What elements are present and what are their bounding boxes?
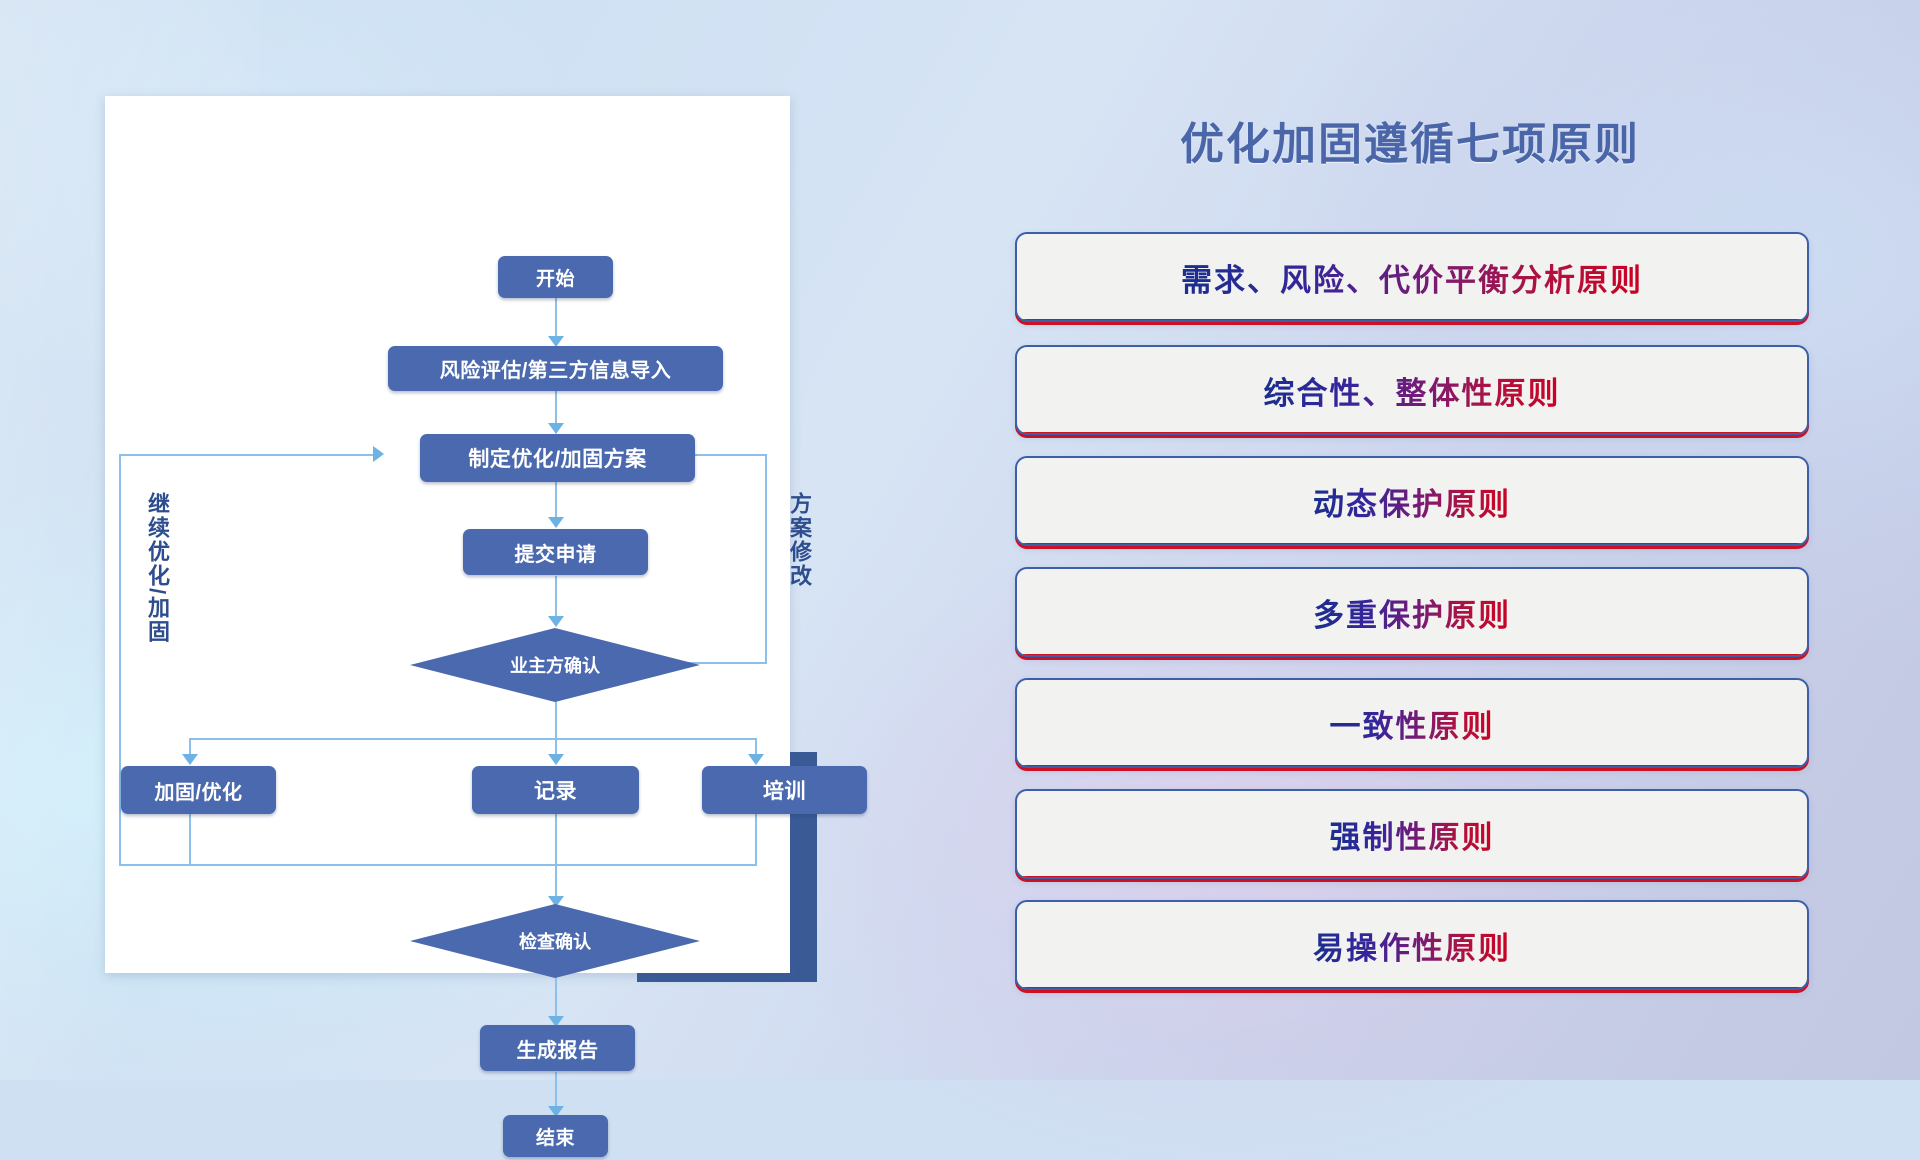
flow-node-end[interactable]: 结束 xyxy=(503,1115,608,1157)
principle-item-2-label: 综合性、整体性原则 xyxy=(1264,368,1561,413)
edge-branch-right-arrow xyxy=(748,754,764,765)
principle-item-2[interactable]: 综合性、整体性原则 xyxy=(1015,345,1809,435)
edge-owner-branch-bus xyxy=(189,738,757,740)
edge-label-continue-optimize: 继续优化/加固 xyxy=(141,492,173,644)
edge-owner-branch-stem xyxy=(555,700,557,740)
principle-item-4-label: 多重保护原则 xyxy=(1313,590,1511,635)
flow-node-plan[interactable]: 制定优化/加固方案 xyxy=(420,434,695,482)
principle-item-5[interactable]: 一致性原则 xyxy=(1015,678,1809,768)
principle-item-6[interactable]: 强制性原则 xyxy=(1015,789,1809,879)
flow-node-record[interactable]: 记录 xyxy=(472,766,639,814)
edge-left-loop-arrow xyxy=(373,446,384,462)
principle-item-1-label: 需求、风险、代价平衡分析原则 xyxy=(1181,255,1643,300)
flow-node-risk-assessment[interactable]: 风险评估/第三方信息导入 xyxy=(388,346,723,391)
edge-merge-bus xyxy=(189,864,757,866)
edge-submit-owner-arrow xyxy=(548,616,564,627)
principle-item-6-label: 强制性原则 xyxy=(1330,812,1495,857)
principles-panel-title: 优化加固遵循七项原则 xyxy=(1015,108,1805,172)
principle-item-3-label: 动态保护原则 xyxy=(1313,479,1511,524)
edge-left-loop-top xyxy=(119,454,381,456)
flow-node-start[interactable]: 开始 xyxy=(498,256,613,298)
flow-node-submit-application[interactable]: 提交申请 xyxy=(463,529,648,575)
edge-branch-mid-arrow xyxy=(548,754,564,765)
principle-item-1[interactable]: 需求、风险、代价平衡分析原则 xyxy=(1015,232,1809,322)
flow-node-owner-confirm[interactable]: 业主方确认 xyxy=(410,628,700,702)
principle-item-5-label: 一致性原则 xyxy=(1330,701,1495,746)
edge-right-loop-vertical xyxy=(765,454,767,664)
edge-risk-plan-arrow xyxy=(548,423,564,434)
flow-node-check-confirm[interactable]: 检查确认 xyxy=(410,904,700,978)
flow-node-training[interactable]: 培训 xyxy=(702,766,867,814)
principle-item-7[interactable]: 易操作性原则 xyxy=(1015,900,1809,990)
edge-merge-right-stem xyxy=(755,814,757,866)
principle-item-4[interactable]: 多重保护原则 xyxy=(1015,567,1809,657)
principle-item-3[interactable]: 动态保护原则 xyxy=(1015,456,1809,546)
flow-node-reinforce[interactable]: 加固/优化 xyxy=(121,766,276,814)
edge-merge-mid-stem xyxy=(555,814,557,906)
flowchart-canvas: 开始 风险评估/第三方信息导入 制定优化/加固方案 提交申请 业主方确认 加固/… xyxy=(105,96,790,973)
flow-node-generate-report[interactable]: 生成报告 xyxy=(480,1025,635,1071)
principle-item-7-label: 易操作性原则 xyxy=(1313,923,1511,968)
edge-label-plan-revision: 方案修改 xyxy=(783,492,815,588)
edge-merge-left-stem xyxy=(189,814,191,866)
flowchart-card: 开始 风险评估/第三方信息导入 制定优化/加固方案 提交申请 业主方确认 加固/… xyxy=(105,96,790,973)
edge-branch-left-arrow xyxy=(182,754,198,765)
edge-plan-submit-arrow xyxy=(548,517,564,528)
